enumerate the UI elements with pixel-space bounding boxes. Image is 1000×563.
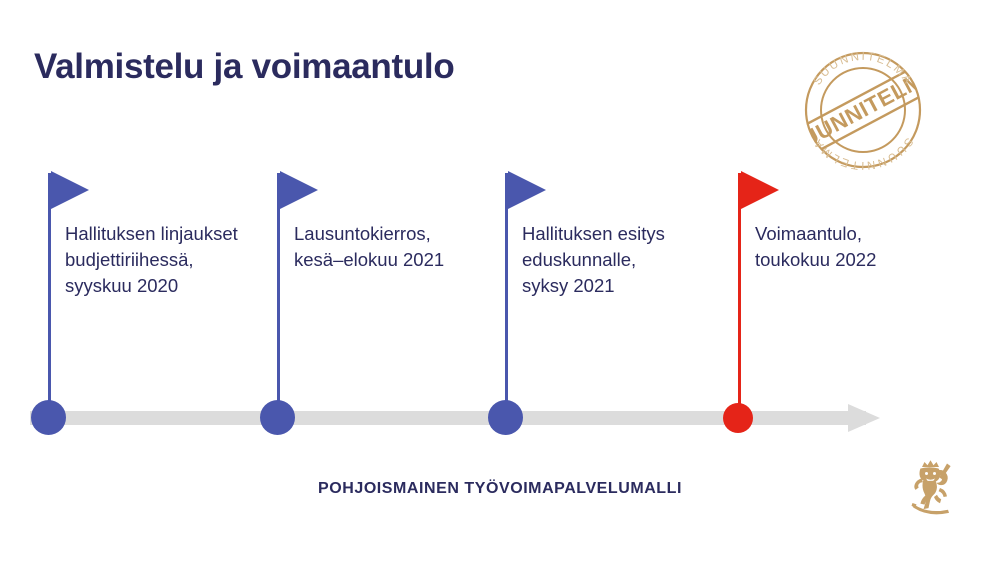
milestone-dot [488, 400, 523, 435]
finnish-lion-icon [906, 455, 964, 517]
flag-icon [51, 171, 89, 209]
milestone-label: Lausuntokierros, kesä–elokuu 2021 [294, 221, 504, 273]
flag-pole [277, 173, 280, 421]
flag-pole [738, 173, 741, 421]
milestone-label: Hallituksen linjaukset budjettiriihessä,… [65, 221, 275, 299]
flag-icon [280, 171, 318, 209]
milestone-label-line: Voimaantulo, [755, 221, 965, 247]
milestone-label-line: budjettiriihessä, [65, 247, 275, 273]
infographic-canvas: Valmistelu ja voimaantulo SUUNNITELMA SU… [0, 0, 1000, 563]
milestone-dot [723, 403, 753, 433]
timeline-milestone-1[interactable]: Hallituksen linjaukset budjettiriihessä,… [48, 0, 49, 563]
milestone-label-line: syksy 2021 [522, 273, 732, 299]
page-title: Valmistelu ja voimaantulo [34, 47, 454, 87]
flag-icon [508, 171, 546, 209]
milestone-label-line: eduskunnalle, [522, 247, 732, 273]
milestone-dot [31, 400, 66, 435]
milestone-label: Hallituksen esitys eduskunnalle, syksy 2… [522, 221, 732, 299]
timeline-milestone-3[interactable]: Hallituksen esitys eduskunnalle, syksy 2… [505, 0, 506, 563]
timeline-milestone-4[interactable]: Voimaantulo, toukokuu 2022 [738, 0, 739, 563]
footer-caption: POHJOISMAINEN TYÖVOIMAPALVELUMALLI [0, 480, 1000, 498]
timeline-arrow-icon [848, 404, 880, 432]
milestone-label-line: syyskuu 2020 [65, 273, 275, 299]
milestone-label-line: Lausuntokierros, [294, 221, 504, 247]
milestone-label-line: Hallituksen linjaukset [65, 221, 275, 247]
milestone-label: Voimaantulo, toukokuu 2022 [755, 221, 965, 273]
milestone-label-line: Hallituksen esitys [522, 221, 732, 247]
milestone-dot [260, 400, 295, 435]
suunnitelma-stamp: SUUNNITELMA SUUNNITELMA SUUNNITELMA [793, 40, 933, 180]
flag-pole [505, 173, 508, 421]
milestone-label-line: kesä–elokuu 2021 [294, 247, 504, 273]
flag-pole [48, 173, 51, 421]
timeline-milestone-2[interactable]: Lausuntokierros, kesä–elokuu 2021 [277, 0, 278, 563]
flag-icon [741, 171, 779, 209]
milestone-label-line: toukokuu 2022 [755, 247, 965, 273]
